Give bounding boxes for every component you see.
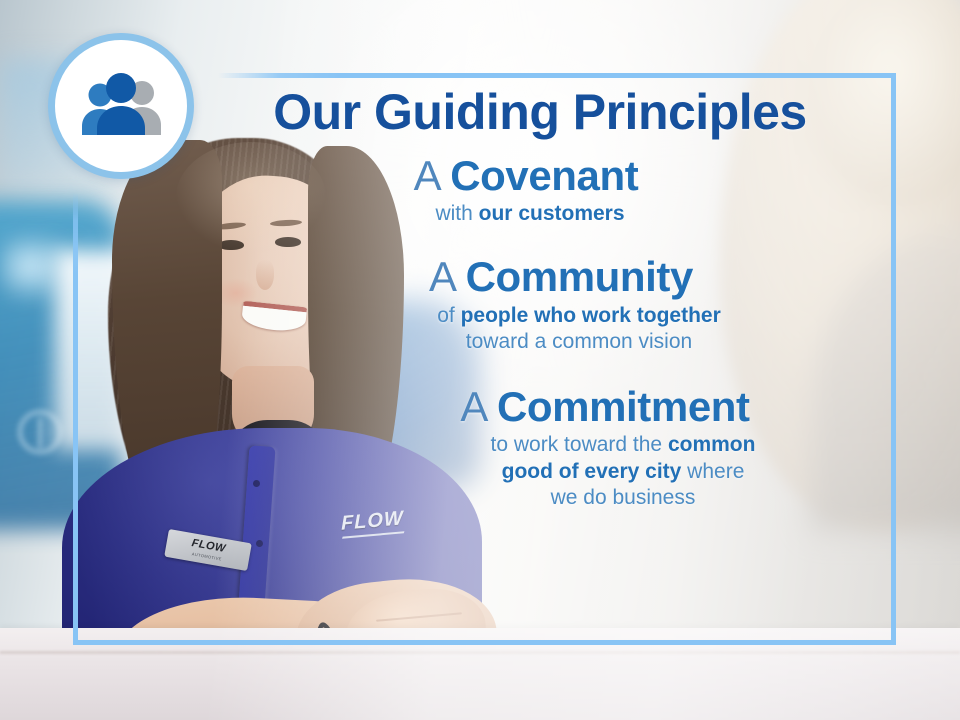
principle-heading: A Community	[200, 253, 880, 300]
principle-keyword: Commitment	[497, 383, 750, 430]
principle-keyword: Community	[466, 253, 693, 300]
principle-subtext-line: with our customers	[200, 201, 860, 227]
principle-subtext-line: we do business	[366, 485, 880, 511]
principle-subtext: of people who work together toward a com…	[200, 303, 880, 356]
principle-subtext-line: good of every city where	[366, 459, 880, 485]
principle-keyword: Covenant	[450, 152, 638, 199]
guiding-principles-poster: FLOW FLOW AUTOMOTIVE	[0, 0, 960, 720]
principle-article: A	[414, 152, 451, 199]
principle-commitment: A Commitment to work toward the common g…	[200, 383, 880, 511]
people-group-badge	[48, 33, 194, 179]
page-title: Our Guiding Principles	[200, 86, 880, 138]
associate-shirt-button	[256, 540, 263, 547]
principle-community: A Community of people who work together …	[200, 253, 880, 355]
desk-surface	[0, 628, 960, 720]
principle-article: A	[429, 253, 466, 300]
desk-edge	[0, 651, 960, 654]
principle-subtext-line: to work toward the common	[366, 432, 880, 458]
principle-heading: A Commitment	[200, 383, 880, 430]
principle-subtext-line: toward a common vision	[278, 329, 880, 355]
principle-subtext: with our customers	[200, 201, 880, 227]
principle-covenant: A Covenant with our customers	[200, 152, 880, 227]
poster-text-content: Our Guiding Principles A Covenant with o…	[200, 86, 880, 516]
principle-subtext: to work toward the common good of every …	[200, 432, 880, 511]
principle-heading: A Covenant	[200, 152, 880, 199]
people-group-icon	[75, 73, 167, 139]
principle-subtext-line: of people who work together	[278, 303, 880, 329]
principle-article: A	[460, 383, 497, 430]
